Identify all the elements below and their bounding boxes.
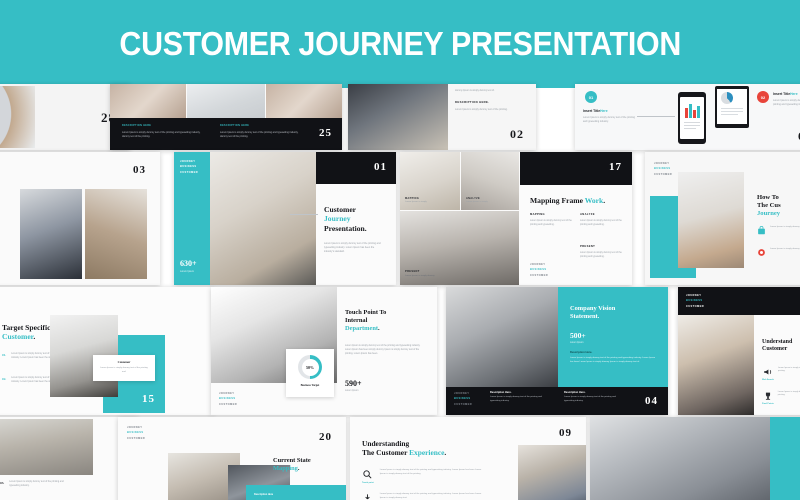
kicker-band: JOURNEY BUSINESS CUSTOMER [678,287,800,315]
caption-text: Lorem Ipsum is simply dummy text of the … [122,131,208,139]
slide-number: 03 [133,164,146,176]
col-present: PRESENT Lorem Ipsum is simply dummy text… [580,244,624,260]
stat-block: 500+ Lorem Ipsum [570,331,586,344]
slide-17[interactable]: MAPPING Lorem Ipsum is simply ANALYZE Lo… [400,152,632,285]
info-card: Customer Lorem Ipsum is simply dummy tex… [93,355,155,381]
item-text: Lorem Ipsum is simply dummy text of the … [773,99,800,107]
kicker: JOURNEY BUSINESS CUSTOMER [180,159,198,175]
slide-deck: 28 Description Here Lorem Ipsum is simpl… [0,88,800,500]
slide-number: 17 [609,161,622,173]
slide-06[interactable]: 01 Insert TitleHere Lorem Ipsum is simpl… [575,84,800,150]
photo-analyze: ANALYZE Lorem Ipsum is simply [461,152,519,210]
stat-block: 590+ Lorem Ipsum [345,379,362,394]
trophy-icon [762,391,774,401]
slide-title: Touch Point To Internal Department. [345,309,386,332]
badge-01: 01 [585,91,599,105]
feature-item-2: Final Points Lorem Ipsum is simply dummy… [762,391,800,405]
how-to-item-2: Lorem Ipsum is simply dummy text of the … [757,248,800,257]
slide-16[interactable]: Touch Point To Internal Department. Lore… [211,287,437,415]
search-icon [362,469,374,480]
slide-photo-2 [85,189,147,279]
slide-photo [0,86,35,148]
photo-mapping: MAPPING Lorem Ipsum is simply [400,152,460,210]
stat-label: Lorem Ipsum [570,342,586,344]
slide-photo-2 [187,84,265,118]
slide-title: Current State Mapping. [273,457,311,473]
badge-02: 02 [757,91,769,103]
connector-line [637,116,675,117]
donut-chart: 50% [298,355,322,379]
caption-label: Description Here [122,124,208,129]
slide-title: Understanding The Customer Experience. [362,439,446,457]
description-text: Lorem Ipsum is simply dummy text of the … [455,108,521,112]
slide-number: 04 [645,395,658,407]
donut-card: 50% Business Target [286,349,334,397]
footer-item-1: Description Here. Lorem Ipsum is simply … [490,391,552,403]
item-title: Insert TitleHere [583,109,635,113]
kicker: JOURNEY BUSINESS CUSTOMER [686,293,704,309]
slide-title: Customer Journey Presentation. [324,205,367,233]
slide-number: 09 [559,427,572,439]
caption-label: Description Here [220,124,306,129]
item-text: Lorem Ipsum is simply dummy text of the … [583,116,635,124]
slide-photo-1 [20,189,82,279]
slide-number: 20 [319,431,332,443]
slide-photo-1 [110,84,186,118]
photo-text: Lorem Ipsum is simply [405,201,427,205]
slide-photo [0,419,93,475]
slide-photo [518,445,586,500]
page-title: CUSTOMER JOURNEY PRESENTATION [119,25,681,63]
description-text: Lorem Ipsum is simply dummy text of the … [570,357,656,364]
slide-photo [446,287,558,387]
target-icon [757,248,766,257]
donut-label: Business Target [286,384,334,387]
slide-title: Target Specific Customer. [2,323,50,342]
slide-number: 01 [374,161,387,173]
kicker: JOURNEY BUSINESS CUSTOMER [219,391,237,407]
feature-item-1: Web Search Lorem Ipsum is simply dummy t… [762,367,800,381]
slide-photo [590,417,770,500]
phone-mockup [678,92,706,144]
preview-canvas: CUSTOMER JOURNEY PRESENTATION 28 Descrip… [0,0,800,500]
photo-text: Lorem Ipsum is simply dummy [405,275,435,279]
slide-photo [348,84,448,150]
how-to-item-1: Lorem Ipsum is simply dummy text of the … [757,226,800,235]
teal-panel: 3 [770,417,800,500]
slide-15[interactable]: Target Specific Customer. 01. Lorem Ipsu… [0,287,213,415]
caption-text: Lorem Ipsum is simply dummy text of the … [220,131,306,139]
slide-number: 02 [510,127,524,142]
slide-04[interactable]: Company Vision Statement. 500+ Lorem Ips… [446,287,668,415]
slide-photo [210,152,316,285]
kicker: JOURNEY BUSINESS CUSTOMER [454,391,472,407]
teal-panel: Company Vision Statement. 500+ Lorem Ips… [558,287,668,387]
band-label: Description Here [254,493,273,496]
kicker: JOURNEY BUSINESS CUSTOMER [530,262,548,278]
stat-label: Lorem Ipsum [345,390,362,394]
download-icon [362,493,374,500]
description-label: Description Here. [570,351,656,354]
description-label: Description Here. [455,100,521,105]
slide-title: Company Vision Statement. [570,305,615,321]
slide-02[interactable]: dummy Ipsum is simply dummy text of. Des… [348,84,536,150]
kicker: JOURNEY BUSINESS CUSTOMER [654,161,672,177]
slide-number: 25 [319,127,332,139]
slide-photo [678,315,754,415]
tablet-mockup [715,86,749,128]
stat-label: Lorem Ipsum [180,270,197,273]
slide-09[interactable]: Understanding The Customer Experience. T… [350,417,586,500]
list-item: 03. Lorem Ipsum is simply dummy text of … [0,481,69,489]
slide-photo-3 [266,84,342,118]
kicker: JOURNEY BUSINESS CUSTOMER [127,425,145,441]
experience-item-1: Touch point Lorem Ipsum is simply dummy … [362,469,482,484]
slide-03[interactable]: y. Lorem Ipsum is simply dummy text of t… [0,152,160,285]
col-mapping: MAPPING Lorem Ipsum is simply dummy text… [530,212,574,228]
slide-title: How To The Cus Journey [757,194,781,218]
slide-25[interactable]: Description Here Lorem Ipsum is simply d… [110,84,342,150]
col-analyze: ANALYZE Lorem Ipsum is simply dummy text… [580,212,624,228]
title-rule [290,214,318,215]
slide-01[interactable]: JOURNEY BUSINESS CUSTOMER 630+ Lorem Ips… [174,152,396,285]
slide-how-to[interactable]: JOURNEY BUSINESS CUSTOMER How To The Cus… [645,152,800,285]
slide-title: Understand Customer [762,339,792,354]
slide-3[interactable]: 3 [590,417,800,500]
teal-band: Description Here [246,485,346,500]
stat-value: 630+ [180,259,197,268]
photo-text: Lorem Ipsum is simply [466,201,488,205]
experience-item-2: Touch point Lorem Ipsum is simply dummy … [362,493,482,500]
teal-sidebar: JOURNEY BUSINESS CUSTOMER 630+ Lorem Ips… [174,152,210,285]
slide-20[interactable]: JOURNEY BUSINESS CUSTOMER 20 Current Sta… [118,417,346,500]
slide-title: Mapping Frame Work. [530,196,605,205]
page-banner: CUSTOMER JOURNEY PRESENTATION [0,0,800,88]
stat-value: 590+ [345,379,362,388]
megaphone-icon [762,367,774,377]
slide-number: 15 [142,393,155,405]
number-band: 01 [316,152,396,184]
slide-text: Lorem Ipsum is simply dummy text of the … [324,242,384,254]
slide-caption-band: Description Here Lorem Ipsum is simply d… [110,118,342,150]
bag-icon [757,226,766,235]
stat-value: 500+ [570,331,586,340]
footer-item-2: Description Here. Lorem Ipsum is simply … [564,391,626,403]
item-title: Insert TitleHere [773,92,800,96]
slide-text: Lorem Ipsum is simply dummy text of the … [345,345,425,356]
number-band: 17 [520,152,632,185]
slide-understanding-right[interactable]: JOURNEY BUSINESS CUSTOMER Understand Cus… [678,287,800,415]
slide-photo [678,172,744,268]
photo-present: PRESENT Lorem Ipsum is simply dummy [400,211,519,285]
